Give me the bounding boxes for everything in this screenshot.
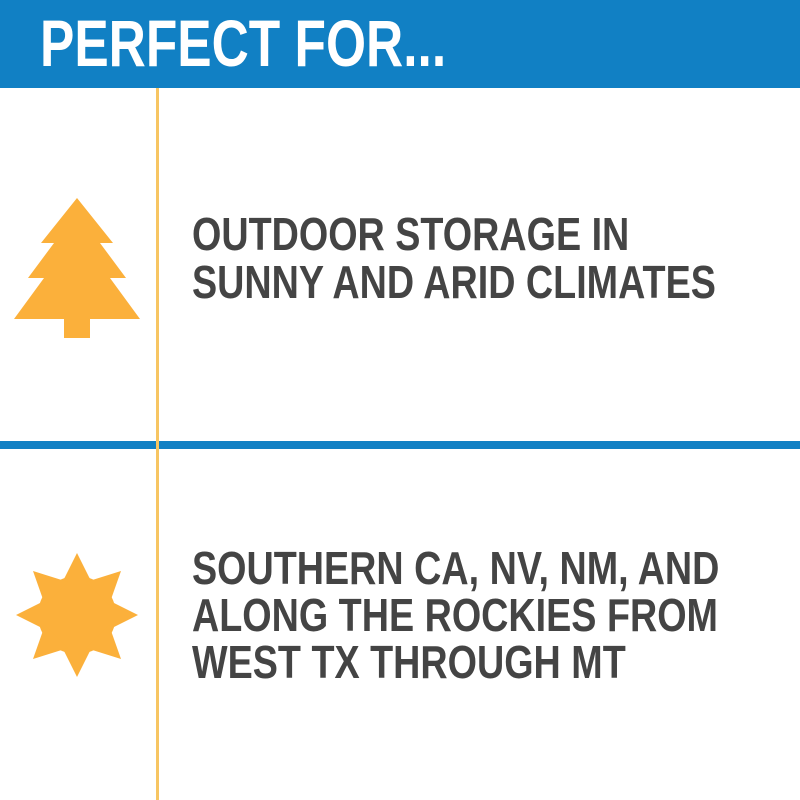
header-banner: PERFECT FOR... (0, 0, 800, 88)
section-text-regions: SOUTHERN CA, NV, NM, AND ALONG THE ROCKI… (192, 545, 719, 686)
icon-cell-regions (0, 449, 156, 800)
icon-cell-climates (0, 88, 156, 441)
text-cell-regions: SOUTHERN CA, NV, NM, AND ALONG THE ROCKI… (159, 449, 800, 800)
evergreen-tree-icon (14, 198, 140, 343)
sun-icon (16, 553, 138, 682)
column-divider (156, 88, 159, 800)
text-cell-climates: OUTDOOR STORAGE IN SUNNY AND ARID CLIMAT… (159, 88, 800, 441)
section-line: OUTDOOR STORAGE IN (192, 210, 716, 258)
section-line: SOUTHERN CA, NV, NM, AND (192, 545, 719, 592)
section-line: SUNNY AND ARID CLIMATES (192, 258, 716, 306)
section-line: ALONG THE ROCKIES FROM (192, 592, 719, 639)
section-line: WEST TX THROUGH MT (192, 639, 719, 686)
infographic-page: PERFECT FOR... OUTDOOR STORAGE IN SUNNY … (0, 0, 800, 800)
page-title: PERFECT FOR... (40, 4, 446, 82)
section-divider (0, 441, 800, 449)
section-regions: SOUTHERN CA, NV, NM, AND ALONG THE ROCKI… (0, 449, 800, 800)
section-text-climates: OUTDOOR STORAGE IN SUNNY AND ARID CLIMAT… (192, 210, 716, 306)
section-climates: OUTDOOR STORAGE IN SUNNY AND ARID CLIMAT… (0, 88, 800, 441)
